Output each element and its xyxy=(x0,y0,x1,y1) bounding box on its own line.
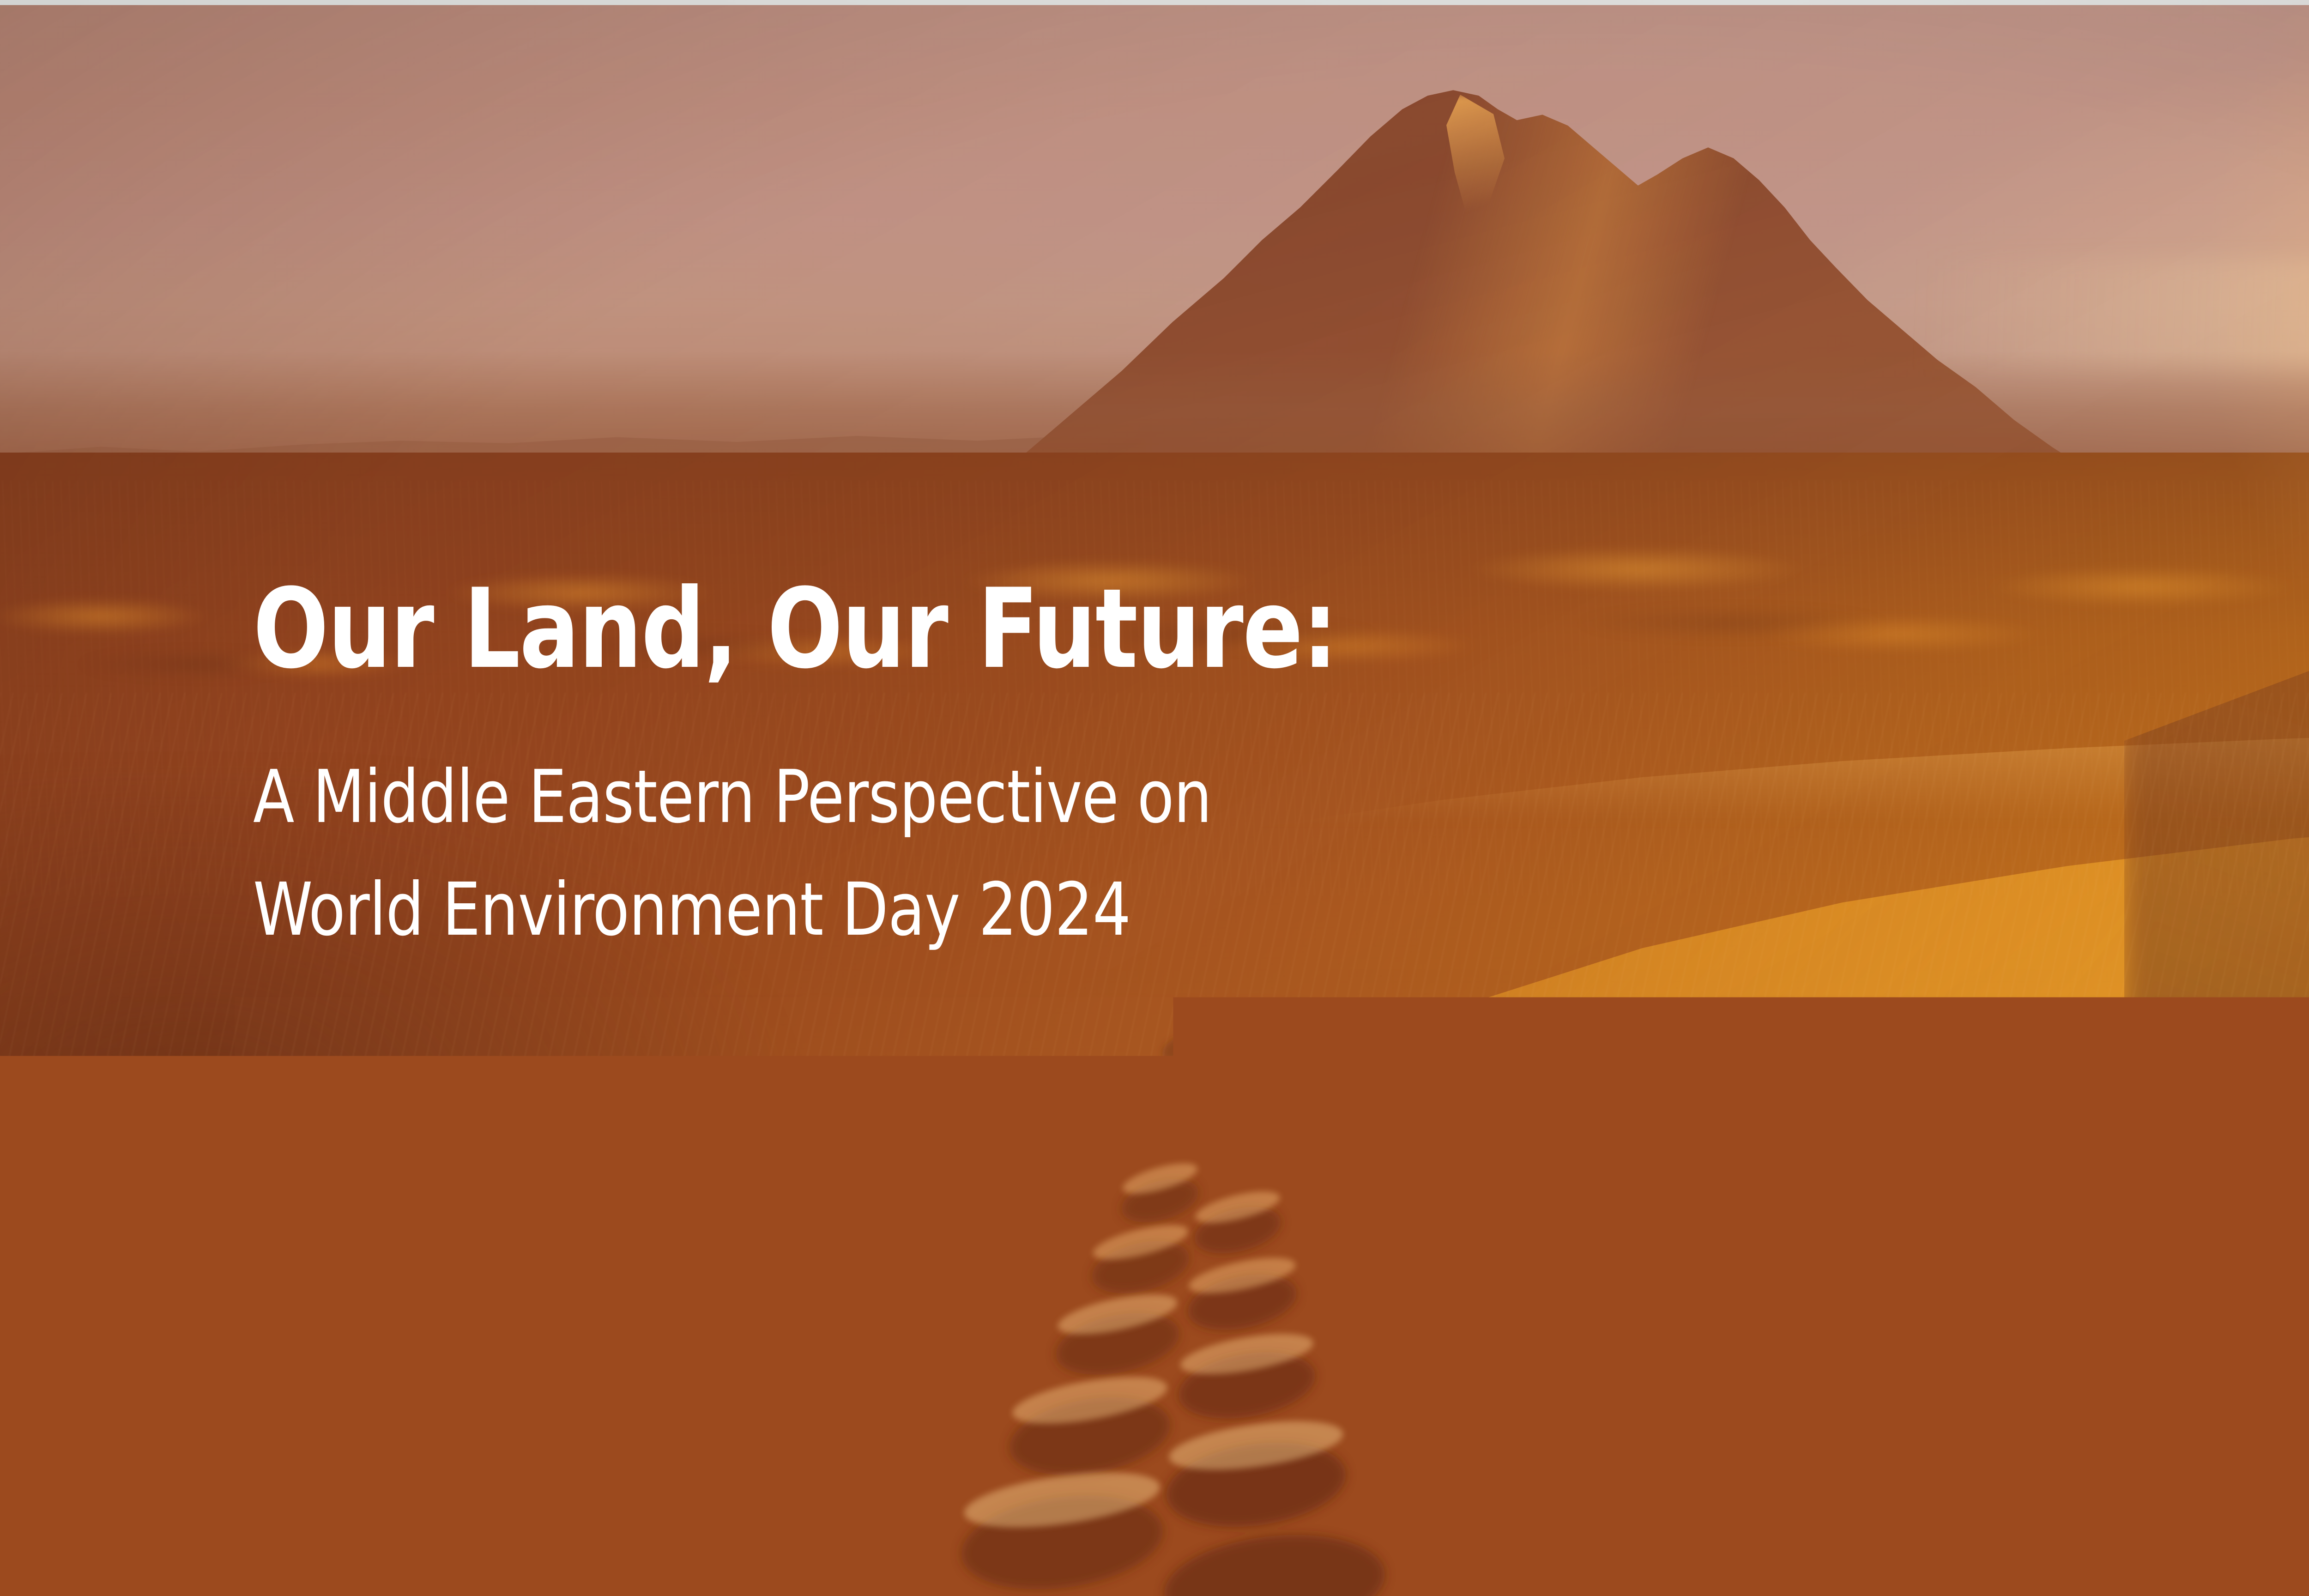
sun-glow xyxy=(2170,0,2309,665)
banner-headline: Our Land, Our Future: xyxy=(253,574,1999,684)
banner-canvas: Our Land, Our Future: A Middle Eastern P… xyxy=(0,0,2309,1596)
banner-subtitle-line-2: World Environment Day 2024 xyxy=(253,873,2037,946)
banner-text-block: Our Land, Our Future: A Middle Eastern P… xyxy=(253,574,2193,946)
banner-subtitle-line-1: A Middle Eastern Perspective on xyxy=(253,761,2037,834)
top-edge-strip xyxy=(0,0,2309,5)
